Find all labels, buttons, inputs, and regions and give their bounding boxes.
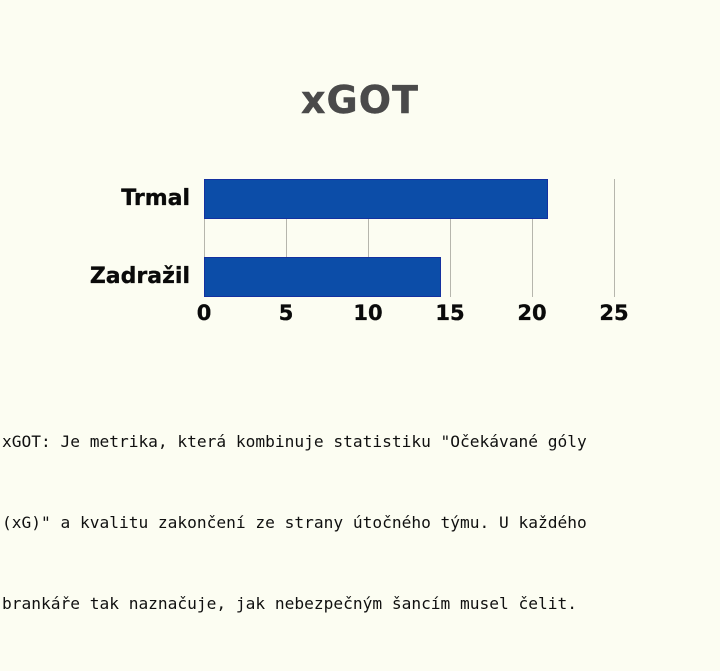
bar-zadrazil[interactable] bbox=[204, 257, 441, 297]
xtick-label-20: 20 bbox=[502, 301, 562, 325]
caption-line-3: brankáře tak naznačuje, jak nebezpečným … bbox=[2, 590, 718, 617]
caption-line-1: xGOT: Je metrika, která kombinuje statis… bbox=[2, 428, 718, 455]
category-label-trmal: Trmal bbox=[121, 179, 190, 219]
xtick-label-5: 5 bbox=[256, 301, 316, 325]
caption-block: xGOT: Je metrika, která kombinuje statis… bbox=[2, 374, 718, 671]
xtick-label-0: 0 bbox=[174, 301, 234, 325]
chart-page: xGOT Trmal Zadražil 0 5 10 15 bbox=[0, 0, 720, 540]
gridline-25 bbox=[614, 179, 615, 297]
bar-trmal[interactable] bbox=[204, 179, 548, 219]
caption-line-2: (xG)" a kvalitu zakončení ze strany útoč… bbox=[2, 509, 718, 536]
bar-chart: Trmal Zadražil 0 5 10 15 20 25 bbox=[0, 160, 720, 345]
xtick-label-15: 15 bbox=[420, 301, 480, 325]
chart-title: xGOT bbox=[0, 78, 720, 122]
plot-area: Trmal Zadražil 0 5 10 15 20 25 bbox=[204, 179, 630, 297]
xtick-label-25: 25 bbox=[584, 301, 644, 325]
xtick-label-10: 10 bbox=[338, 301, 398, 325]
category-label-zadrazil: Zadražil bbox=[90, 257, 190, 297]
